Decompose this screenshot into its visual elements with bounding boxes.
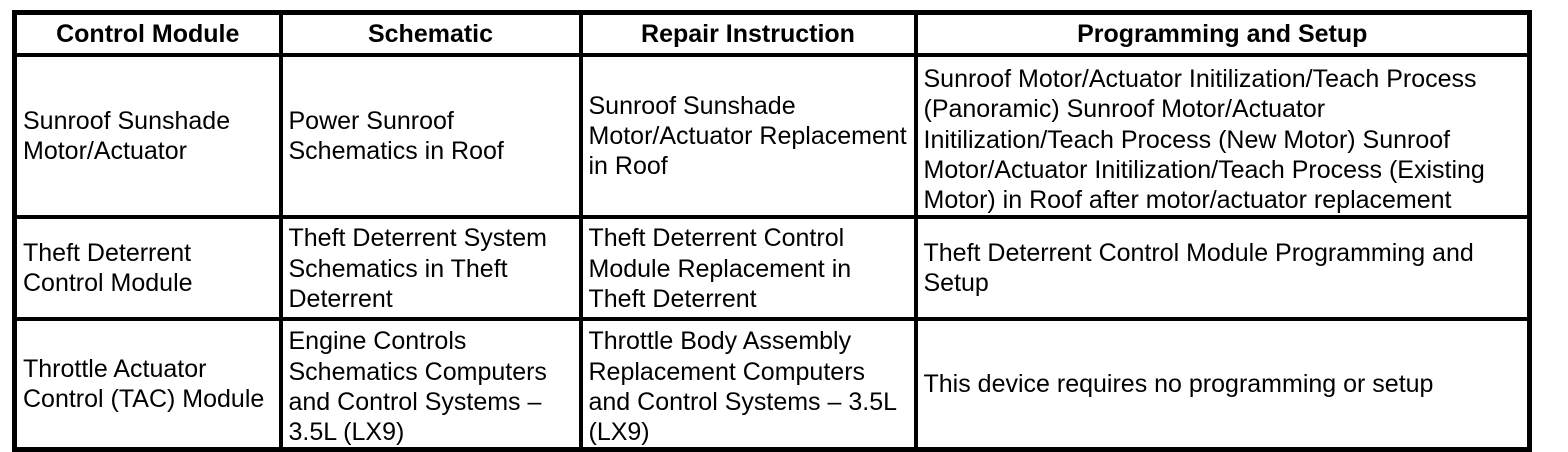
cell-text-programming-and-setup: Sunroof Motor/Actuator Initilization/Tea… (924, 64, 1522, 215)
cell-text-programming-and-setup: This device requires no programming or s… (924, 369, 1522, 399)
cell-schematic: Engine Controls Schematics Computers and… (281, 319, 581, 450)
cell-schematic: Theft Deterrent System Schematics in The… (281, 217, 581, 319)
cell-text-repair-instruction: Throttle Body Assembly Replacement Compu… (589, 326, 908, 447)
table-row: Theft Deterrent Control Module Theft Det… (15, 217, 1530, 319)
cell-text-programming-and-setup: Theft Deterrent Control Module Programmi… (924, 238, 1522, 299)
cell-repair-instruction: Sunroof Sunshade Motor/Actuator Replacem… (581, 55, 916, 217)
table-header-row: Control Module Schematic Repair Instruct… (15, 13, 1530, 56)
cell-control-module: Sunroof Sunshade Motor/Actuator (15, 55, 281, 217)
cell-control-module: Throttle Actuator Control (TAC) Module (15, 319, 281, 450)
cell-programming-and-setup: This device requires no programming or s… (916, 319, 1530, 450)
cell-text-repair-instruction: Theft Deterrent Control Module Replaceme… (589, 223, 908, 314)
control-module-table: Control Module Schematic Repair Instruct… (12, 10, 1532, 452)
cell-text-control-module: Throttle Actuator Control (TAC) Module (23, 354, 273, 415)
cell-text-control-module: Theft Deterrent Control Module (23, 238, 273, 299)
table-row: Throttle Actuator Control (TAC) Module E… (15, 319, 1530, 450)
column-header-control-module: Control Module (15, 13, 281, 56)
cell-programming-and-setup: Theft Deterrent Control Module Programmi… (916, 217, 1530, 319)
table-header: Control Module Schematic Repair Instruct… (15, 13, 1530, 56)
cell-text-repair-instruction: Sunroof Sunshade Motor/Actuator Replacem… (589, 91, 908, 182)
cell-text-schematic: Power Sunroof Schematics in Roof (289, 106, 573, 167)
cell-text-schematic: Engine Controls Schematics Computers and… (289, 326, 573, 447)
cell-schematic: Power Sunroof Schematics in Roof (281, 55, 581, 217)
cell-repair-instruction: Throttle Body Assembly Replacement Compu… (581, 319, 916, 450)
cell-programming-and-setup: Sunroof Motor/Actuator Initilization/Tea… (916, 55, 1530, 217)
column-header-programming-and-setup: Programming and Setup (916, 13, 1530, 56)
column-header-schematic: Schematic (281, 13, 581, 56)
cell-text-schematic: Theft Deterrent System Schematics in The… (289, 223, 573, 314)
table-row: Sunroof Sunshade Motor/Actuator Power Su… (15, 55, 1530, 217)
cell-control-module: Theft Deterrent Control Module (15, 217, 281, 319)
cell-repair-instruction: Theft Deterrent Control Module Replaceme… (581, 217, 916, 319)
cell-text-control-module: Sunroof Sunshade Motor/Actuator (23, 106, 273, 167)
column-header-repair-instruction: Repair Instruction (581, 13, 916, 56)
page-canvas: Control Module Schematic Repair Instruct… (0, 0, 1568, 446)
table-body: Sunroof Sunshade Motor/Actuator Power Su… (15, 55, 1530, 450)
